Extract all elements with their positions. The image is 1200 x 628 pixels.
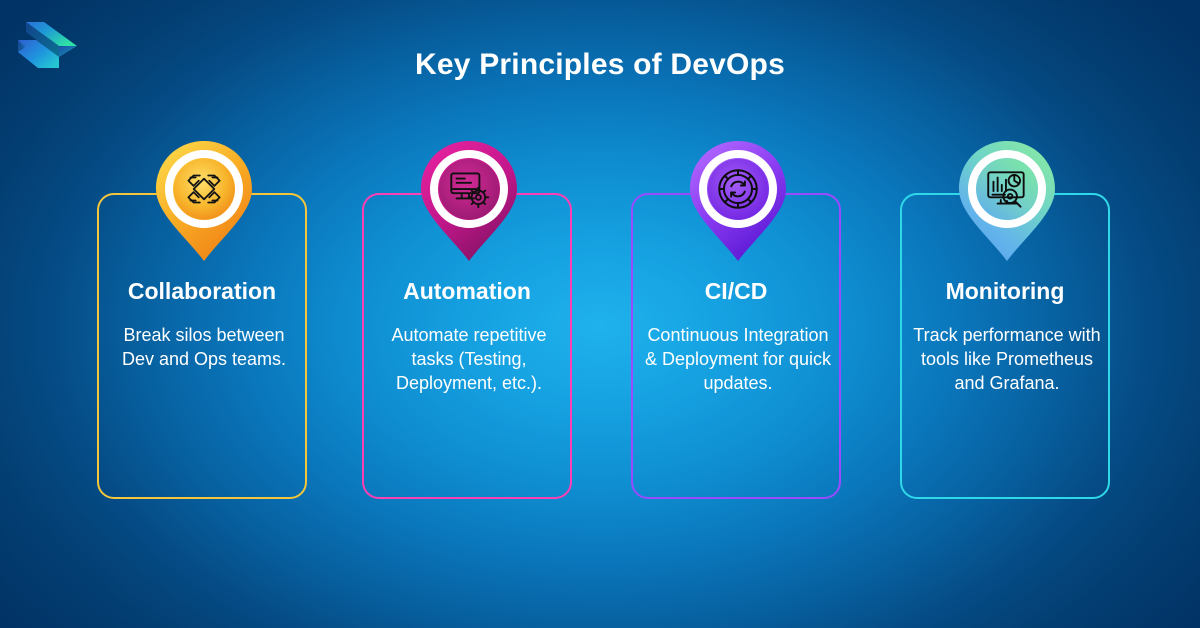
principles-card-row: Collaboration Break silos between Dev an… [0,193,1200,499]
monitor-gear-icon [444,164,494,214]
card-description: Track performance with tools like Promet… [908,323,1106,395]
card-title: Collaboration [99,278,305,305]
map-pin-monitoring [951,137,1063,265]
card-description: Continuous Integration & Deployment for … [639,323,837,395]
map-pin-cicd [682,137,794,265]
teamwork-hands-icon [179,164,229,214]
card-title: Automation [364,278,570,305]
principle-card-monitoring[interactable]: Monitoring Track performance with tools … [900,193,1110,499]
principle-card-cicd[interactable]: CI/CD Continuous Integration & Deploymen… [631,193,841,499]
page-title: Key Principles of DevOps [0,47,1200,83]
chart-magnifier-icon [982,164,1032,214]
card-title: CI/CD [633,278,839,305]
map-pin-automation [413,137,525,265]
principle-card-automation[interactable]: Automation Automate repetitive tasks (Te… [362,193,572,499]
card-description: Break silos between Dev and Ops teams. [105,323,303,371]
card-title: Monitoring [902,278,1108,305]
card-description: Automate repetitive tasks (Testing, Depl… [370,323,568,395]
gear-refresh-cycle-icon [713,164,763,214]
principle-card-collaboration[interactable]: Collaboration Break silos between Dev an… [97,193,307,499]
infographic-canvas: Key Principles of DevOps [0,0,1200,628]
map-pin-collaboration [148,137,260,265]
